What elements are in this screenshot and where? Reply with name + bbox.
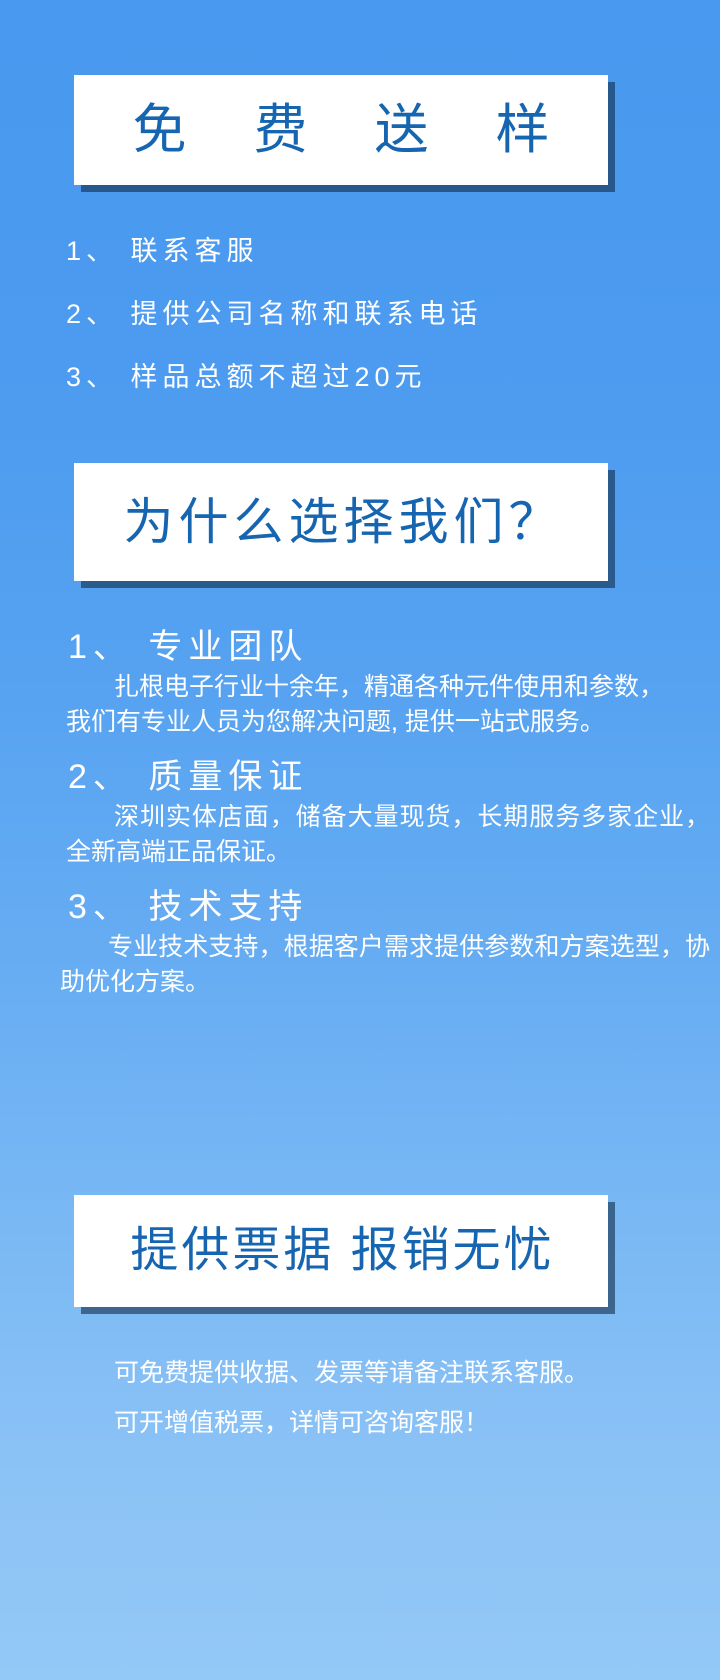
feature-technical-support: 3、 技术支持 专业技术支持，根据客户需求提供参数和方案选型，协助优化方案。 <box>0 885 720 1001</box>
feature-2-body: 深圳实体店面，储备大量现货，长期服务多家企业，全新高端正品保证。 <box>0 800 720 871</box>
feature-2-title: 2、 质量保证 <box>0 755 720 800</box>
invoice-note: 可免费提供收据、发票等请备注联系客服。 可开增值税票，详情可咨询客服！ <box>0 1355 720 1442</box>
invoice-note-line-2: 可开增值税票，详情可咨询客服！ <box>0 1405 720 1441</box>
feature-professional-team: 1、 专业团队 扎根电子行业十余年，精通各种元件使用和参数，我们有专业人员为您解… <box>0 625 720 741</box>
feature-quality-guarantee: 2、 质量保证 深圳实体店面，储备大量现货，长期服务多家企业，全新高端正品保证。 <box>0 755 720 871</box>
promo-page: 免 费 送 样 1、 联系客服 2、 提供公司名称和联系电话 3、 样品总额不超… <box>0 0 720 1680</box>
banner-invoice: 提供票据 报销无忧 <box>74 1195 608 1307</box>
sample-step-1: 1、 联系客服 <box>66 238 666 265</box>
feature-3-body: 专业技术支持，根据客户需求提供参数和方案选型，协助优化方案。 <box>0 930 720 1001</box>
banner-free-sample-title: 免 费 送 样 <box>106 103 575 157</box>
banner-why-us-title: 为什么选择我们？ <box>119 497 564 547</box>
banner-invoice-title: 提供票据 报销无忧 <box>127 1227 554 1275</box>
feature-1-title: 1、 专业团队 <box>0 625 720 670</box>
sample-steps-list: 1、 联系客服 2、 提供公司名称和联系电话 3、 样品总额不超过20元 <box>66 238 666 427</box>
sample-step-3: 3、 样品总额不超过20元 <box>66 364 666 391</box>
banner-free-sample: 免 费 送 样 <box>74 75 608 185</box>
feature-1-body: 扎根电子行业十余年，精通各种元件使用和参数，我们有专业人员为您解决问题, 提供一… <box>0 670 720 741</box>
feature-list: 1、 专业团队 扎根电子行业十余年，精通各种元件使用和参数，我们有专业人员为您解… <box>0 625 720 1015</box>
feature-3-title: 3、 技术支持 <box>0 885 720 930</box>
sample-step-2: 2、 提供公司名称和联系电话 <box>66 301 666 328</box>
banner-why-us: 为什么选择我们？ <box>74 463 608 581</box>
invoice-note-line-1: 可免费提供收据、发票等请备注联系客服。 <box>0 1355 720 1391</box>
